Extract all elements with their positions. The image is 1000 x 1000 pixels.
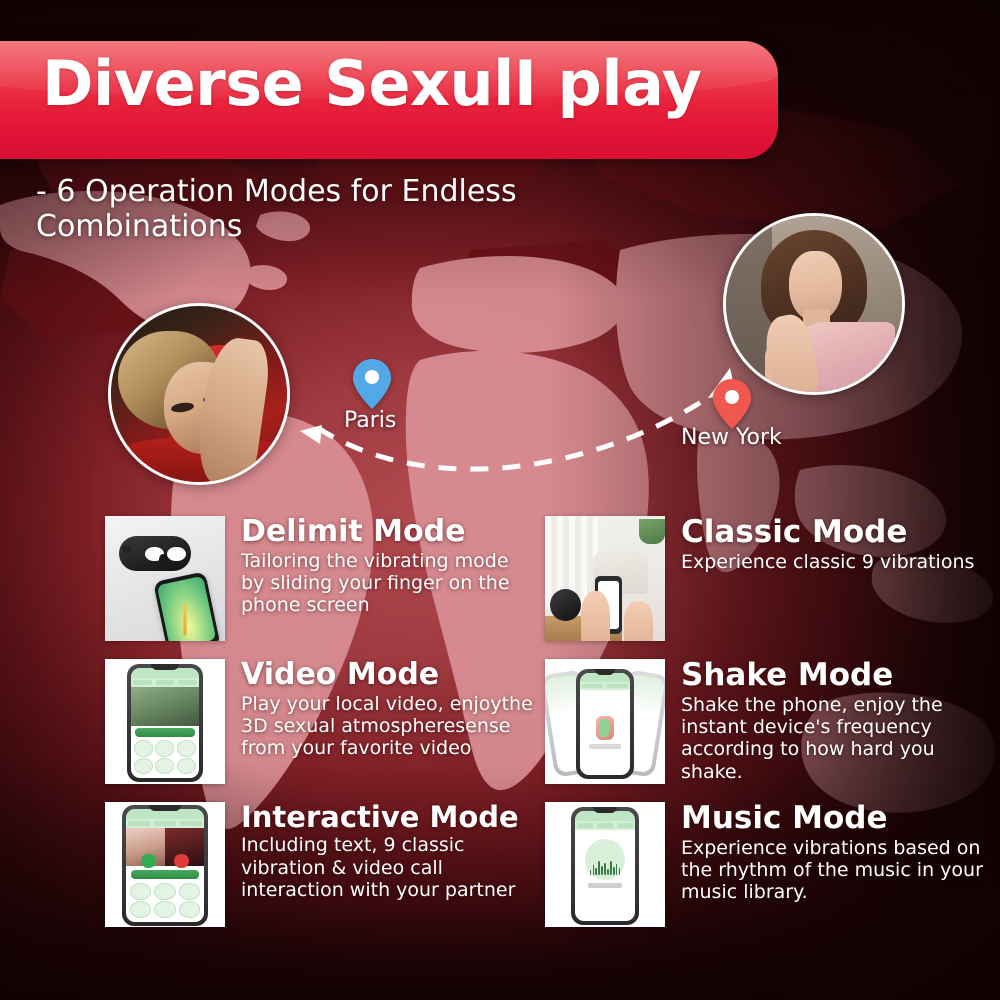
mode-title-interactive: Interactive Mode bbox=[241, 802, 535, 832]
promo-poster: Diverse SexulI play - 6 Operation Modes … bbox=[0, 0, 1000, 1000]
mode-thumbnail-classic bbox=[545, 516, 665, 641]
woman-portrait-image bbox=[726, 216, 902, 392]
mode-card-body: Shake Mode Shake the phone, enjoy the in… bbox=[665, 659, 985, 784]
mode-title-shake: Shake Mode bbox=[681, 659, 985, 692]
mode-card-classic[interactable]: Classic Mode Experience classic 9 vibrat… bbox=[545, 516, 985, 641]
mode-card-interactive[interactable]: Interactive Mode Including text, 9 class… bbox=[105, 802, 535, 927]
mode-thumbnail-video bbox=[105, 659, 225, 784]
map-pin-paris-icon[interactable] bbox=[352, 358, 392, 410]
mode-card-delimit[interactable]: Delimit Mode Tailoring the vibrating mod… bbox=[105, 516, 535, 641]
mode-title-video: Video Mode bbox=[241, 659, 535, 691]
mode-column-right: Classic Mode Experience classic 9 vibrat… bbox=[545, 516, 985, 945]
mode-description-delimit: Tailoring the vibrating mode by sliding … bbox=[241, 550, 535, 617]
page-subtitle: - 6 Operation Modes for Endless Combinat… bbox=[36, 174, 596, 244]
map-pin-newyork-icon[interactable] bbox=[712, 378, 752, 430]
man-portrait-image bbox=[111, 306, 287, 482]
man-portrait bbox=[108, 303, 290, 485]
mode-card-music[interactable]: Music Mode Experience vibrations based o… bbox=[545, 802, 985, 927]
mode-thumbnail-delimit bbox=[105, 516, 225, 641]
mode-card-video[interactable]: Video Mode Play your local video, enjoyt… bbox=[105, 659, 535, 784]
woman-portrait bbox=[723, 213, 905, 395]
mode-title-music: Music Mode bbox=[681, 802, 985, 835]
mode-description-interactive: Including text, 9 classic vibration & vi… bbox=[241, 834, 535, 901]
map-pin-label-newyork: New York bbox=[681, 425, 782, 450]
mode-description-video: Play your local video, enjoythe 3D sexua… bbox=[241, 693, 535, 760]
mode-column-left: Delimit Mode Tailoring the vibrating mod… bbox=[105, 516, 535, 945]
mode-title-delimit: Delimit Mode bbox=[241, 516, 535, 548]
mode-card-shake[interactable]: Shake Mode Shake the phone, enjoy the in… bbox=[545, 659, 985, 784]
mode-description-music: Experience vibrations based on the rhyth… bbox=[681, 837, 985, 904]
mode-thumbnail-interactive bbox=[105, 802, 225, 927]
map-pin-label-paris: Paris bbox=[344, 408, 396, 433]
mode-description-shake: Shake the phone, enjoy the instant devic… bbox=[681, 694, 985, 784]
mode-card-body: Video Mode Play your local video, enjoyt… bbox=[225, 659, 535, 784]
mode-card-body: Interactive Mode Including text, 9 class… bbox=[225, 802, 535, 927]
mode-thumbnail-music bbox=[545, 802, 665, 927]
mode-thumbnail-shake bbox=[545, 659, 665, 784]
mode-title-classic: Classic Mode bbox=[681, 516, 985, 549]
mode-card-body: Classic Mode Experience classic 9 vibrat… bbox=[665, 516, 985, 641]
page-title: Diverse SexulI play bbox=[42, 47, 702, 120]
mode-card-body: Delimit Mode Tailoring the vibrating mod… bbox=[225, 516, 535, 641]
mode-description-classic: Experience classic 9 vibrations bbox=[681, 551, 985, 573]
mode-card-body: Music Mode Experience vibrations based o… bbox=[665, 802, 985, 927]
